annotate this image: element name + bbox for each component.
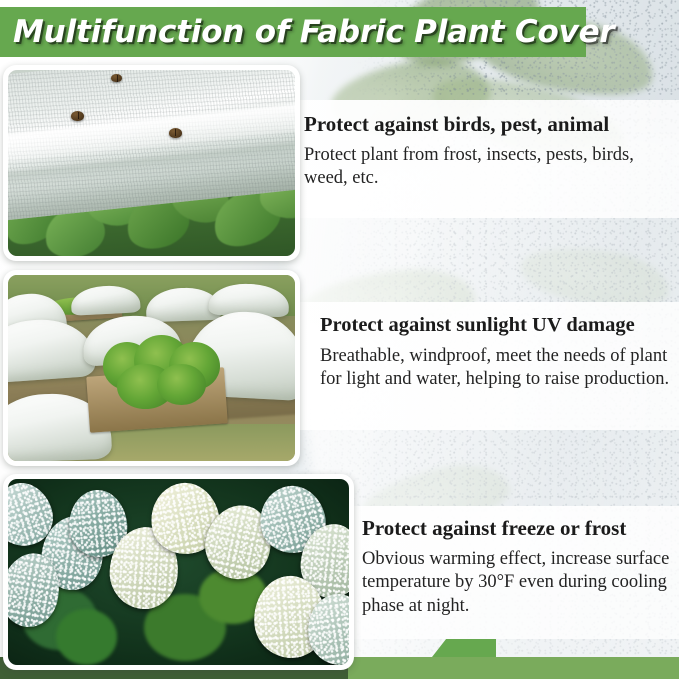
title-banner: Multifunction of Fabric Plant Cover [0,7,586,57]
lettuce-head [157,364,206,405]
feature-headline: Protect against sunlight UV damage [320,313,676,338]
page-title: Multifunction of Fabric Plant Cover [0,17,615,48]
footer-bar-light [348,657,679,679]
photo-frame-inner [8,275,295,461]
feature-headline: Protect against freeze or frost [362,516,674,541]
insect [111,74,122,82]
feature-text-freeze-or-frost: Protect against freeze or frost Obvious … [362,516,674,618]
green-leaf [56,609,117,665]
feature-photo-freeze-or-frost [3,474,354,670]
feature-text-birds-pest-animal: Protect against birds, pest, animal Prot… [304,112,674,191]
footer-white-strip [348,639,679,657]
product-infographic: Multifunction of Fabric Plant Cover [0,0,679,679]
insect [169,128,182,138]
feature-photo-sunlight-uv-damage [3,270,300,466]
feature-photo-birds-pest-animal [3,65,300,261]
photo-frame-inner [8,70,295,256]
feature-body: Breathable, windproof, meet the needs of… [320,345,676,392]
photo-frame-inner [8,479,349,665]
feature-text-sunlight-uv-damage: Protect against sunlight UV damage Breat… [320,313,676,391]
insect [71,111,84,121]
feature-headline: Protect against birds, pest, animal [304,112,674,137]
feature-body: Obvious warming effect, increase surface… [362,548,674,618]
feature-body: Protect plant from frost, insects, pests… [304,144,674,191]
